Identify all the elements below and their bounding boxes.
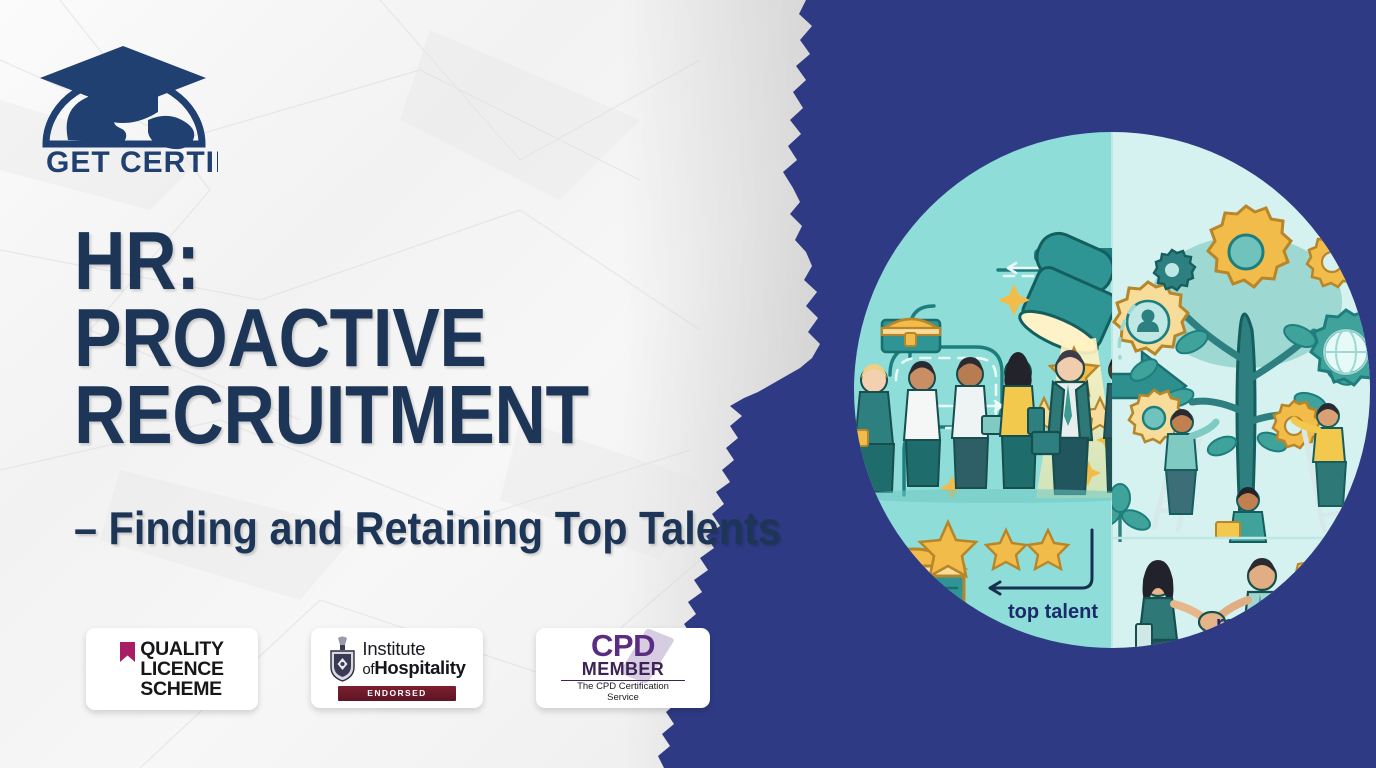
label-top-talent: top talent (1008, 601, 1098, 623)
headline-line-3: RECRUITMENT (74, 376, 676, 453)
badge-cpd-member[interactable]: CPD MEMBER The CPD Certification Service (536, 628, 710, 708)
qls-line-1: QUALITY (140, 639, 224, 659)
qls-line-2: LICENCE (140, 659, 224, 679)
cpd-subtitle: MEMBER (582, 660, 664, 678)
logo-wordmark: GET CERTIFY (46, 146, 218, 176)
badge-institute-of-hospitality[interactable]: Institute ofHospitality ENDORSED (311, 628, 483, 708)
cpd-title: CPD (591, 632, 655, 661)
bookmark-ribbon-icon (120, 642, 135, 662)
headline-line-1: HR: (74, 222, 676, 299)
brand-logo[interactable]: GET CERTIFY (28, 28, 218, 176)
qls-line-3: SCHEME (140, 679, 224, 699)
magnet-icon (1294, 552, 1376, 650)
heraldic-crest-icon (328, 636, 357, 682)
ioh-endorsed-banner: ENDORSED (338, 686, 456, 701)
page-title: HR: PROACTIVE RECRUITMENT (74, 222, 676, 454)
badge-quality-licence-scheme[interactable]: QUALITY LICENCE SCHEME (86, 628, 258, 710)
ioh-line-2-bold: Hospitality (374, 657, 465, 678)
cpd-caption-2: Service (577, 693, 669, 704)
ioh-line-2-prefix: of (362, 661, 374, 678)
banner-canvas: top talent (0, 0, 1376, 768)
headline-line-2: PROACTIVE (74, 299, 676, 376)
page-subtitle: – Finding and Retaining Top Talents (74, 505, 812, 551)
accreditation-badges: QUALITY LICENCE SCHEME (86, 628, 710, 710)
label-retaining: retaining (1216, 613, 1300, 635)
